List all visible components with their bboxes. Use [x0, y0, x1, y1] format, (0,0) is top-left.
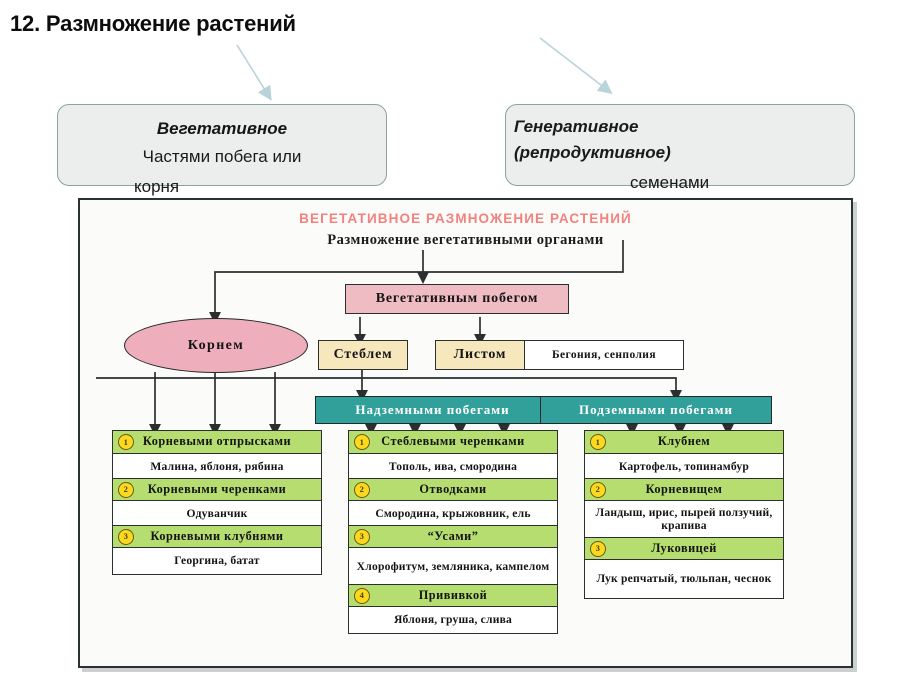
slide-root: 12. Размножение растений Вегетативное Ча…	[0, 0, 910, 683]
row-header: 2Корневищем	[585, 478, 783, 501]
diagram-frame: ВЕГЕТАТИВНОЕ РАЗМНОЖЕНИЕ РАСТЕНИЙ Размно…	[78, 198, 853, 668]
callout-vegetative-heading: Вегетативное	[58, 119, 386, 139]
row-header-label: Стеблевыми черенками	[381, 435, 524, 449]
diagram-subtitle: Размножение вегетативными органами	[80, 232, 851, 249]
row-header-label: Корневыми черенками	[148, 483, 286, 497]
number-badge-icon: 2	[354, 482, 370, 498]
number-badge-icon: 1	[590, 434, 606, 450]
row-header-label: Корневищем	[646, 483, 723, 497]
number-badge-icon: 3	[590, 541, 606, 557]
row-examples: Одуванчик	[113, 501, 321, 525]
diagram-title: ВЕГЕТАТИВНОЕ РАЗМНОЖЕНИЕ РАСТЕНИЙ	[80, 211, 851, 226]
column-under-ground: 1КлубнемКартофель, топинамбур2Корневищем…	[584, 430, 784, 599]
row-examples: Тополь, ива, смородина	[349, 454, 557, 478]
row-examples: Смородина, крыжовник, ель	[349, 501, 557, 525]
node-root-ellipse: Корнем	[124, 318, 308, 373]
row-header: 1Стеблевыми черенками	[349, 431, 557, 454]
number-badge-icon: 2	[590, 482, 606, 498]
row-header: 2Корневыми черенками	[113, 478, 321, 501]
row-header-label: “Усами”	[428, 530, 479, 544]
row-header: 3Луковицей	[585, 537, 783, 560]
row-header-label: Клубнем	[658, 435, 710, 449]
node-leaf-examples: Бегония, сенполия	[524, 340, 684, 370]
callout-vegetative: Вегетативное Частями побега или корня	[57, 104, 387, 186]
diagram-inner: ВЕГЕТАТИВНОЕ РАЗМНОЖЕНИЕ РАСТЕНИЙ Размно…	[80, 200, 851, 666]
number-badge-icon: 3	[354, 529, 370, 545]
row-header: 1Корневыми отпрысками	[113, 431, 321, 454]
row-header-label: Луковицей	[651, 542, 717, 556]
callout-generative-heading-2: (репродуктивное)	[506, 143, 854, 163]
row-header: 3Корневыми клубнями	[113, 525, 321, 548]
node-leaf: Листом	[435, 340, 525, 370]
row-examples: Малина, яблоня, рябина	[113, 454, 321, 478]
page-title: 12. Размножение растений	[10, 11, 296, 37]
row-examples: Яблоня, груша, слива	[349, 607, 557, 631]
row-examples: Лук репчатый, тюльпан, чеснок	[585, 560, 783, 596]
row-header: 4Прививкой	[349, 584, 557, 607]
column-above-ground: 1Стеблевыми черенкамиТополь, ива, смород…	[348, 430, 558, 634]
number-badge-icon: 4	[354, 588, 370, 604]
node-stem: Стеблем	[318, 340, 408, 370]
arrow-to-vegetative	[237, 45, 270, 98]
callout-generative-detail: семенами	[506, 173, 854, 193]
callout-generative: Генеративное (репродуктивное) семенами	[505, 104, 855, 186]
number-badge-icon: 1	[354, 434, 370, 450]
node-above-ground-shoots: Надземными побегами	[315, 396, 550, 424]
arrow-to-generative	[540, 38, 610, 92]
row-header: 1Клубнем	[585, 431, 783, 454]
column-root: 1Корневыми отпрыскамиМалина, яблоня, ряб…	[112, 430, 322, 575]
row-header-label: Отводками	[419, 483, 486, 497]
number-badge-icon: 3	[118, 529, 134, 545]
row-examples: Хлорофитум, земляника, кампелом	[349, 548, 557, 584]
callout-vegetative-line1: Частями побега или	[58, 147, 386, 167]
row-examples: Ландыш, ирис, пырей ползучий, крапива	[585, 501, 783, 537]
row-examples: Картофель, топинамбур	[585, 454, 783, 478]
row-header-label: Корневыми клубнями	[151, 530, 284, 544]
row-examples: Георгина, батат	[113, 548, 321, 572]
row-header-label: Прививкой	[419, 589, 488, 603]
number-badge-icon: 1	[118, 434, 134, 450]
callout-vegetative-line2: корня	[58, 177, 386, 197]
row-header: 3“Усами”	[349, 525, 557, 548]
row-header: 2Отводками	[349, 478, 557, 501]
node-under-ground-shoots: Подземными побегами	[540, 396, 772, 424]
node-vegetative-shoot: Вегетативным побегом	[345, 284, 569, 314]
callout-generative-heading-1: Генеративное	[506, 117, 854, 137]
row-header-label: Корневыми отпрысками	[143, 435, 291, 449]
number-badge-icon: 2	[118, 482, 134, 498]
